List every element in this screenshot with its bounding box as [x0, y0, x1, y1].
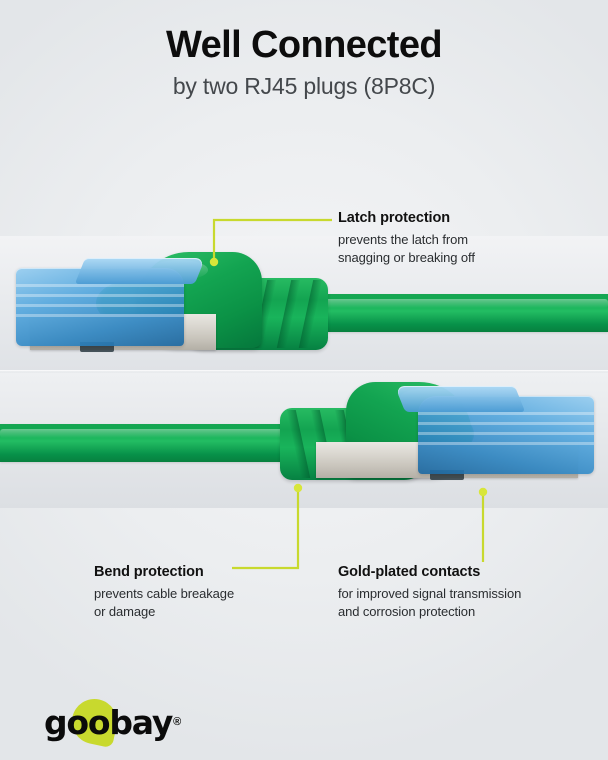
housing-ridge — [418, 432, 594, 435]
housing-ridge — [418, 442, 594, 445]
callout-description: prevents cable breakage or damage — [94, 585, 324, 622]
boot-rib — [287, 410, 310, 478]
callout-title: Gold-plated contacts — [338, 563, 588, 583]
cable-jacket-bottom — [0, 424, 300, 462]
latch-tab-bottom — [395, 386, 526, 412]
housing-ridge — [16, 304, 184, 307]
page-subtitle: by two RJ45 plugs (8P8C) — [0, 73, 608, 101]
housing-ridge — [418, 412, 594, 415]
latch-tab-top — [75, 258, 206, 284]
callout-title: Latch protection — [338, 209, 588, 229]
boot-rib — [299, 280, 322, 348]
housing-ridge — [16, 294, 184, 297]
callout-gold-plated-contacts: Gold-plated contacts for improved signal… — [338, 563, 588, 621]
logo-wordmark: goobay — [44, 706, 172, 739]
goobay-logo: goobay ® — [44, 702, 181, 742]
callout-latch-protection: Latch protection prevents the latch from… — [338, 209, 588, 267]
callout-description: for improved signal transmission and cor… — [338, 585, 588, 622]
callout-bend-protection: Bend protection prevents cable breakage … — [94, 563, 324, 621]
page-title: Well Connected — [0, 24, 608, 67]
registered-trademark-symbol: ® — [173, 716, 181, 728]
housing-ridge — [16, 314, 184, 317]
header: Well Connected by two RJ45 plugs (8P8C) — [0, 24, 608, 100]
infographic-canvas: Well Connected by two RJ45 plugs (8P8C) — [0, 0, 608, 760]
rj45-plug-bottom — [0, 372, 608, 508]
boot-rib — [277, 280, 300, 348]
cable-jacket-top — [318, 294, 608, 332]
callout-title: Bend protection — [94, 563, 324, 583]
callout-description: prevents the latch from snagging or brea… — [338, 231, 588, 268]
housing-ridge — [418, 422, 594, 425]
housing-ridge — [16, 284, 184, 287]
